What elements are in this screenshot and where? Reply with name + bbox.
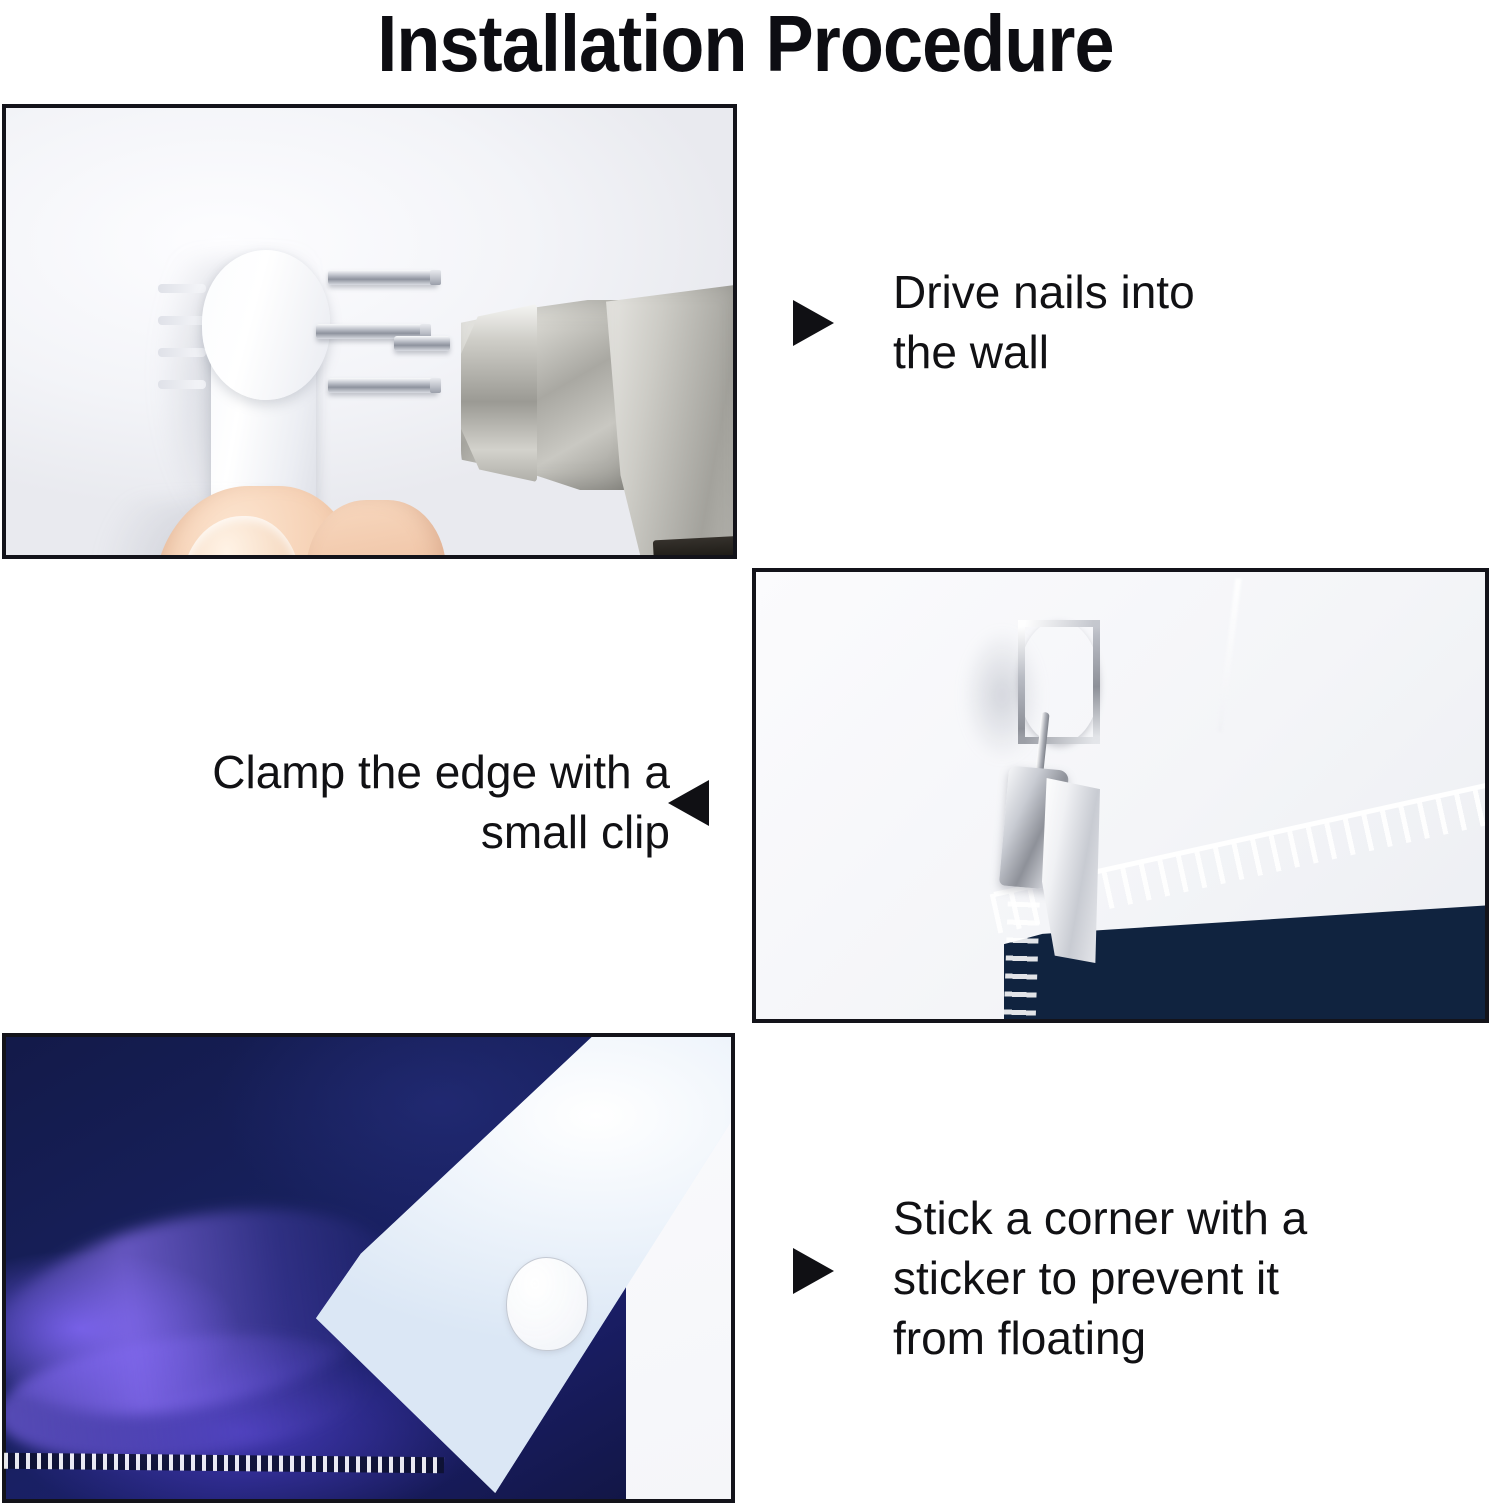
hook-rib <box>158 284 206 293</box>
step-3-caption: Stick a corner with a sticker to prevent… <box>893 1188 1373 1368</box>
hammer-collar <box>653 536 737 559</box>
hook-rib <box>158 348 206 357</box>
step-1-caption: Drive nails into the wall <box>893 262 1313 382</box>
photo-clamp-edge <box>752 568 1489 1023</box>
photo-stick-corner <box>2 1033 735 1503</box>
hook-rib <box>158 316 206 325</box>
page-title: Installation Procedure <box>75 2 1417 86</box>
nail <box>394 336 450 351</box>
nail <box>328 378 438 393</box>
photo-drive-nails-content <box>6 108 733 555</box>
step-2-caption: Clamp the edge with a small clip <box>60 742 670 862</box>
triangle-right-icon <box>793 300 834 346</box>
nail-head <box>430 378 441 393</box>
nail <box>328 270 438 285</box>
hook-rib <box>158 380 206 389</box>
photo-drive-nails <box>2 104 737 559</box>
round-sticker <box>506 1257 588 1351</box>
photo-clamp-edge-content <box>756 572 1485 1019</box>
nail-head <box>430 270 441 285</box>
infographic-stage: Installation Procedure <box>0 0 1491 1500</box>
photo-stick-corner-content <box>6 1037 731 1499</box>
clip-ring <box>1018 620 1100 744</box>
triangle-left-icon <box>668 780 709 826</box>
hook-head <box>202 250 330 400</box>
triangle-right-icon <box>793 1248 834 1294</box>
